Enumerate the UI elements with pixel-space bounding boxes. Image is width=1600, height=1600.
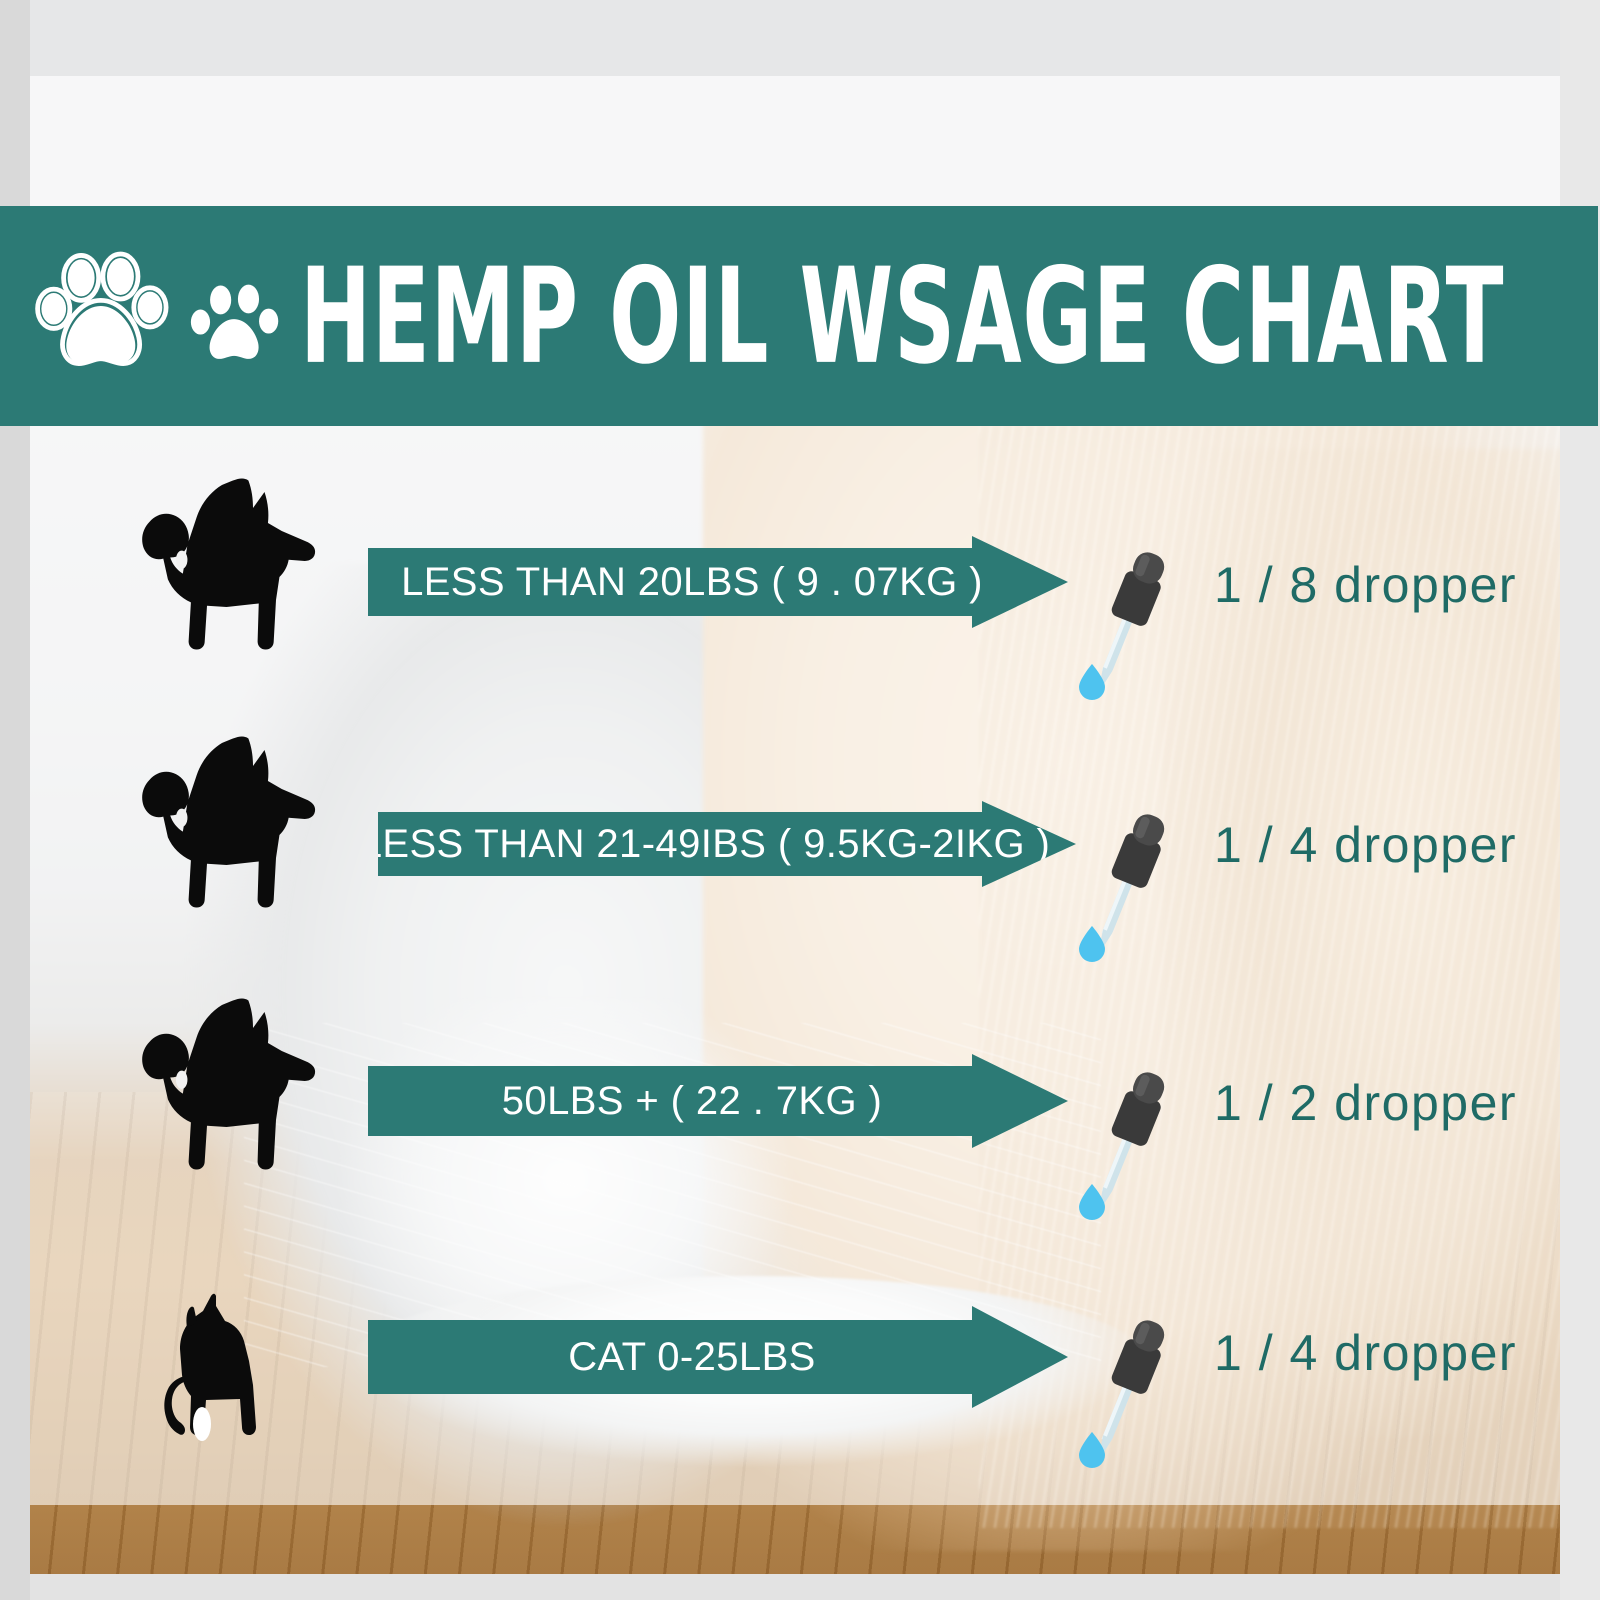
cat-silhouette-icon xyxy=(142,1292,282,1452)
paw-prints-group xyxy=(34,247,284,379)
white-panel xyxy=(30,76,1560,206)
dog-silhouette-icon xyxy=(138,730,322,970)
photo-stage: LESS THAN 20LBS ( 9 . 07KG ) 1 / 8 dropp… xyxy=(30,426,1560,1574)
dose-label: 1 / 2 dropper xyxy=(1214,1074,1517,1132)
paw-print-icon xyxy=(188,277,284,369)
weight-range-label: LESS THAN 20LBS ( 9 . 07KG ) xyxy=(401,560,983,605)
dropper-icon xyxy=(1030,1056,1220,1226)
infographic-root: HEMP OIL WSAGE CHART LESS THAN 20LBS ( 9… xyxy=(0,0,1600,1600)
weight-range-label: LESS THAN 21-49IBS ( 9.5KG-2IKG ) xyxy=(360,822,1051,867)
dog-silhouette-icon xyxy=(138,472,322,712)
dose-arrow: 50LBS + ( 22 . 7KG ) xyxy=(368,1054,1068,1148)
paw-print-icon xyxy=(34,247,176,379)
dropper-icon xyxy=(1030,1304,1220,1474)
frame-top-strip xyxy=(0,0,1600,76)
weight-range-label: 50LBS + ( 22 . 7KG ) xyxy=(502,1079,882,1124)
header-band: HEMP OIL WSAGE CHART xyxy=(0,206,1598,426)
dose-label: 1 / 8 dropper xyxy=(1214,556,1517,614)
dog-silhouette-icon xyxy=(138,992,322,1232)
dropper-icon xyxy=(1030,536,1220,706)
dose-arrow: LESS THAN 21-49IBS ( 9.5KG-2IKG ) xyxy=(378,801,1076,887)
page-title: HEMP OIL WSAGE CHART xyxy=(300,250,1504,382)
weight-range-label: CAT 0-25LBS xyxy=(568,1335,816,1380)
dose-label: 1 / 4 dropper xyxy=(1214,1324,1517,1382)
dose-arrow: LESS THAN 20LBS ( 9 . 07KG ) xyxy=(368,536,1068,628)
dropper-icon xyxy=(1030,798,1220,968)
dose-arrow: CAT 0-25LBS xyxy=(368,1306,1068,1408)
dose-label: 1 / 4 dropper xyxy=(1214,816,1517,874)
